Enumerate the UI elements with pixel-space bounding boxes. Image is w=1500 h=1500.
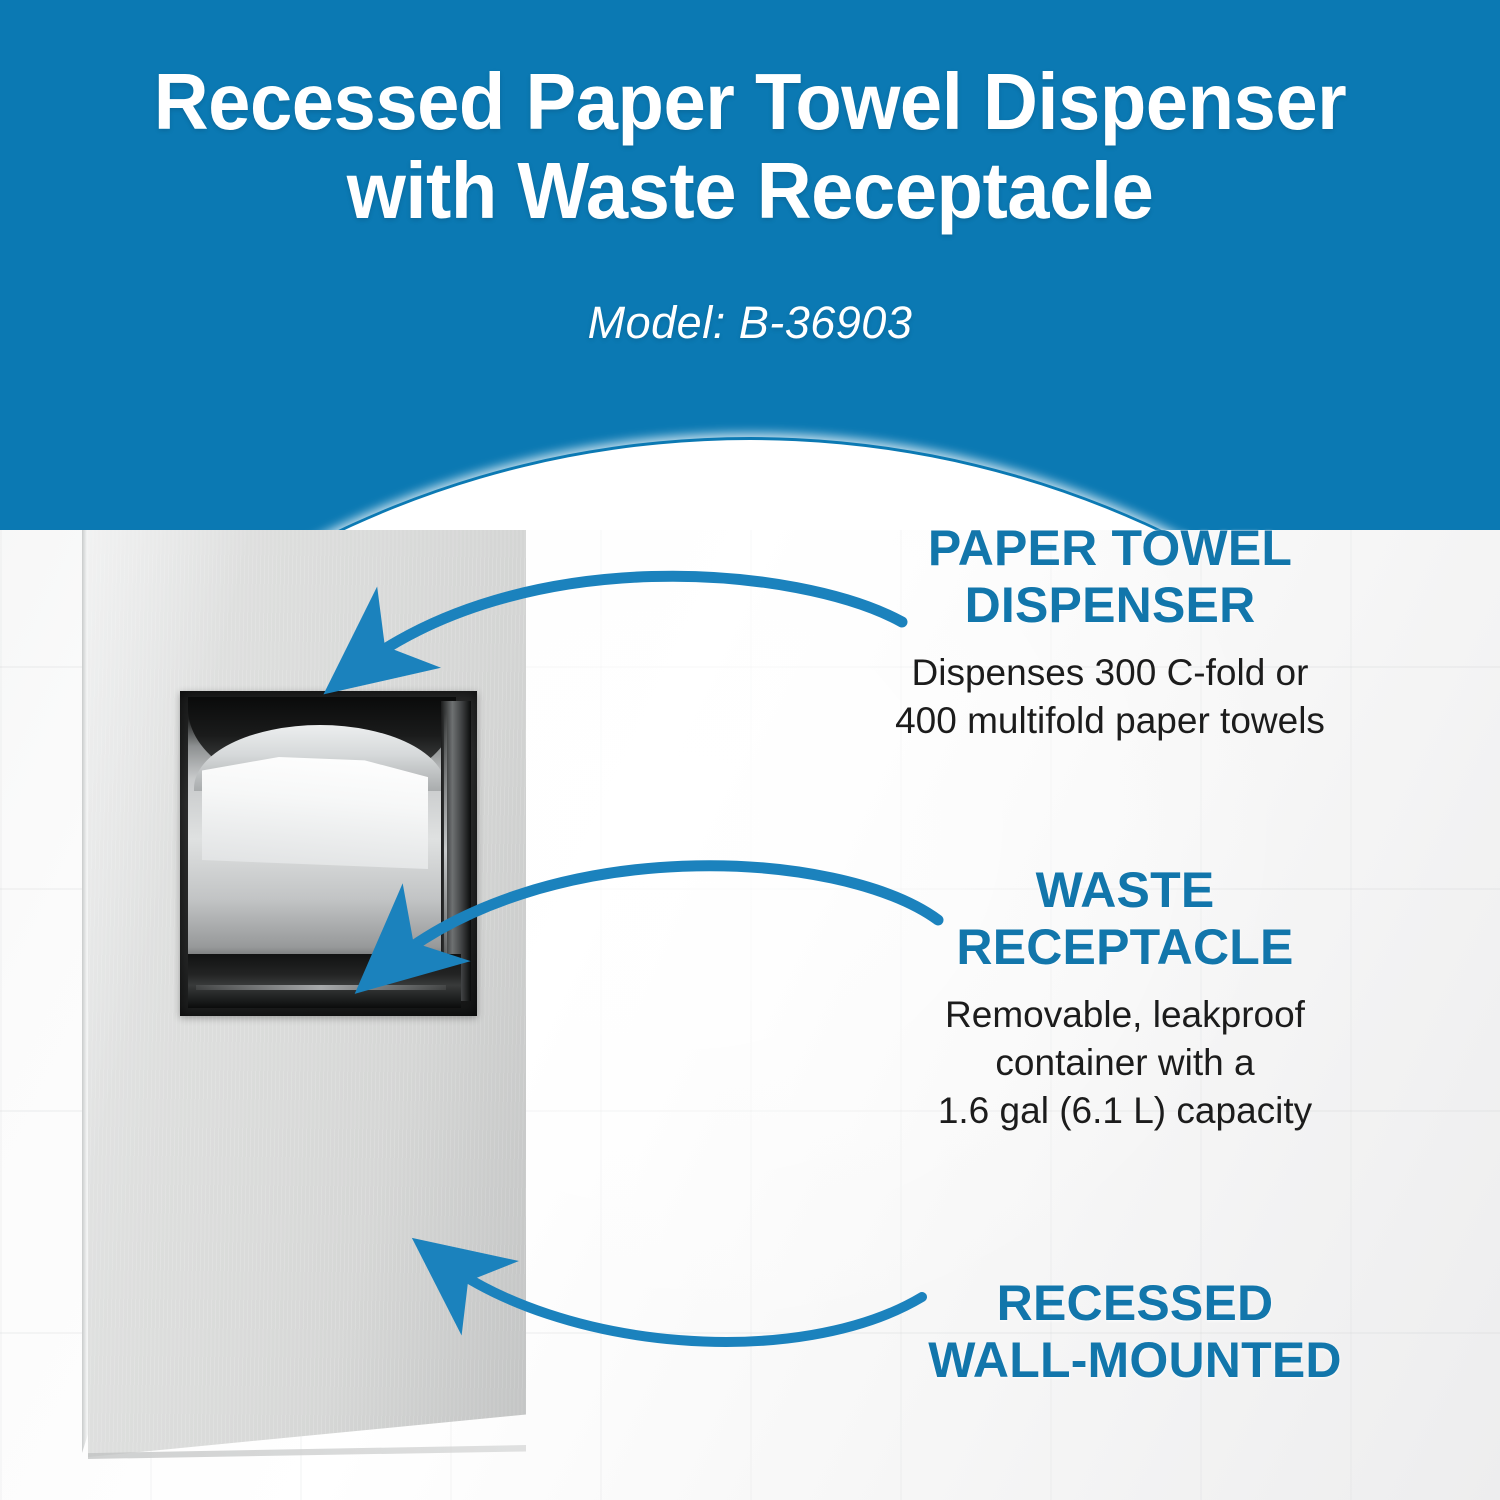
callout-heading-paper-towel-dispenser: PAPER TOWEL DISPENSER — [800, 520, 1420, 633]
recessed-dispenser-opening — [180, 691, 477, 1016]
callout-body-paper-towel-dispenser: Dispenses 300 C-fold or 400 multifold pa… — [800, 649, 1420, 745]
callout-body-waste-receptacle: Removable, leakproof container with a 1.… — [830, 991, 1420, 1135]
waste-receptacle-highlight — [196, 985, 446, 990]
opening-right-highlight — [444, 713, 447, 989]
page-title: Recessed Paper Towel Dispenser with Wast… — [38, 58, 1463, 236]
model-number-label: Model: B-36903 — [0, 297, 1500, 349]
infographic-stage: Recessed Paper Towel Dispenser with Wast… — [0, 0, 1500, 1500]
paper-towel-stack — [202, 757, 428, 869]
callout-paper-towel-dispenser: PAPER TOWEL DISPENSER Dispenses 300 C-fo… — [800, 520, 1420, 745]
waste-receptacle-opening — [188, 954, 461, 1008]
callout-recessed-wall-mounted: RECESSED WALL-MOUNTED — [840, 1275, 1430, 1388]
callout-waste-receptacle: WASTE RECEPTACLE Removable, leakproof co… — [830, 862, 1420, 1135]
callout-heading-recessed-wall-mounted: RECESSED WALL-MOUNTED — [840, 1275, 1430, 1388]
callout-heading-waste-receptacle: WASTE RECEPTACLE — [830, 862, 1420, 975]
